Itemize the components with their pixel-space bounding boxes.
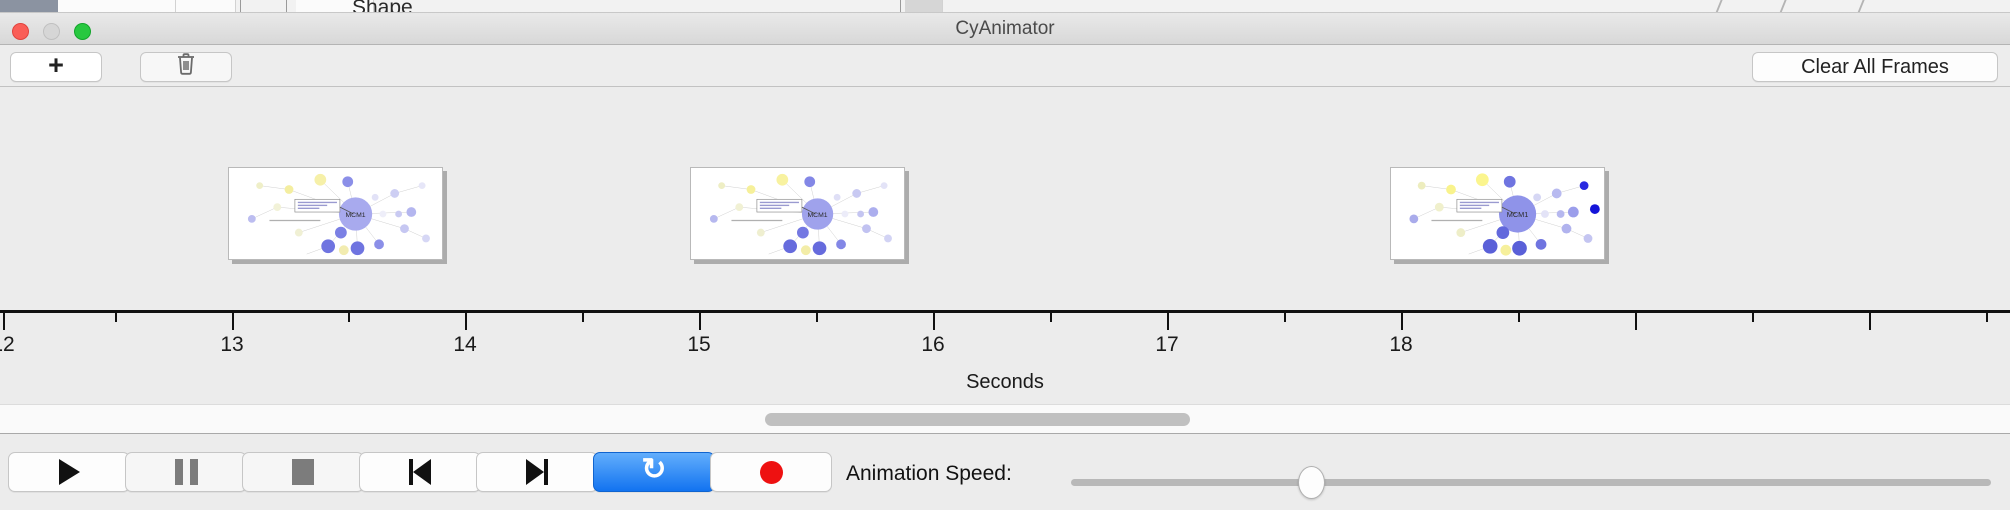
axis-tick-label: 14 (453, 333, 476, 357)
stop-icon (292, 459, 314, 485)
axis-tick-label: 13 (220, 333, 243, 357)
network-graph-image: MCM1 (691, 168, 904, 259)
axis-tick-major (3, 313, 5, 330)
skip-back-icon (409, 459, 431, 485)
axis-tick-label: 18 (1389, 333, 1412, 357)
axis-tick-label: 15 (687, 333, 710, 357)
window-title: CyAnimator (0, 18, 2010, 40)
skip-to-end-button[interactable] (476, 452, 598, 492)
bg-divider (286, 0, 287, 13)
axis-title-seconds: Seconds (0, 371, 2010, 394)
pause-icon (175, 459, 198, 485)
timeline-axis (0, 310, 2010, 313)
stop-button[interactable] (242, 452, 364, 492)
bg-segment (176, 0, 236, 13)
bg-segment (905, 0, 943, 13)
axis-tick-label: 12 (0, 333, 15, 357)
axis-tick-minor (1986, 313, 1988, 322)
axis-tick-major (1635, 313, 1637, 330)
bg-divider (900, 0, 901, 13)
axis-tick-major (699, 313, 701, 330)
axis-tick-minor (1284, 313, 1286, 322)
bg-slant (1779, 0, 1798, 13)
axis-tick-major (1401, 313, 1403, 330)
bg-segment (58, 0, 176, 13)
axis-tick-minor (816, 313, 818, 322)
bg-slant (1857, 0, 1876, 13)
frame-thumbnail[interactable]: MCM1 (1390, 167, 1605, 260)
animation-speed-slider[interactable] (1071, 479, 1991, 486)
plus-icon: + (48, 52, 64, 79)
axis-tick-minor (1752, 313, 1754, 322)
background-window-strip: Shape (0, 0, 2010, 13)
delete-frame-button[interactable] (140, 52, 232, 82)
toolbar: + Clear All Frames (0, 45, 2010, 87)
network-graph-image: MCM1 (1391, 168, 1604, 259)
scrollbar-thumb[interactable] (765, 413, 1190, 426)
record-icon (760, 461, 783, 484)
clear-all-frames-button[interactable]: Clear All Frames (1752, 52, 1998, 82)
axis-tick-major (1869, 313, 1871, 330)
loop-button[interactable]: ↻ (593, 452, 715, 492)
pause-button[interactable] (125, 452, 247, 492)
svg-text:MCM1: MCM1 (1507, 210, 1529, 219)
add-frame-button[interactable]: + (10, 52, 102, 82)
timeline-horizontal-scrollbar[interactable] (0, 404, 2010, 434)
axis-tick-major (933, 313, 935, 330)
trash-icon (175, 52, 197, 82)
axis-tick-label: 16 (921, 333, 944, 357)
bg-divider (240, 0, 241, 13)
skip-forward-icon (526, 459, 548, 485)
axis-tick-minor (1518, 313, 1520, 322)
bg-dark-segment (0, 0, 58, 13)
timeline-panel[interactable]: MCM1 (0, 88, 2010, 404)
play-icon (59, 459, 80, 485)
axis-tick-label: 17 (1155, 333, 1178, 357)
axis-tick-major (1167, 313, 1169, 330)
frame-thumbnail[interactable]: MCM1 (228, 167, 443, 260)
bg-slant (1715, 0, 1734, 13)
axis-tick-minor (1050, 313, 1052, 322)
axis-tick-major (232, 313, 234, 330)
axis-tick-major (465, 313, 467, 330)
axis-tick-minor (348, 313, 350, 322)
animation-speed-label: Animation Speed: (846, 462, 1012, 486)
network-graph-image: MCM1 (229, 168, 442, 259)
record-button[interactable] (710, 452, 832, 492)
play-button[interactable] (8, 452, 130, 492)
svg-text:MCM1: MCM1 (808, 212, 828, 219)
loop-icon: ↻ (641, 455, 666, 485)
playback-control-bar: ↻ Animation Speed: (0, 435, 2010, 510)
timeline-content: MCM1 (0, 88, 2010, 404)
clear-all-frames-label: Clear All Frames (1801, 56, 1949, 79)
axis-tick-minor (582, 313, 584, 322)
bg-ghost-label: Shape (352, 0, 413, 13)
svg-text:MCM1: MCM1 (346, 212, 366, 219)
frame-thumbnail[interactable]: MCM1 (690, 167, 905, 260)
animation-speed-slider-handle[interactable] (1298, 466, 1325, 499)
skip-to-start-button[interactable] (359, 452, 481, 492)
axis-tick-minor (115, 313, 117, 322)
title-bar[interactable]: CyAnimator (0, 13, 2010, 45)
